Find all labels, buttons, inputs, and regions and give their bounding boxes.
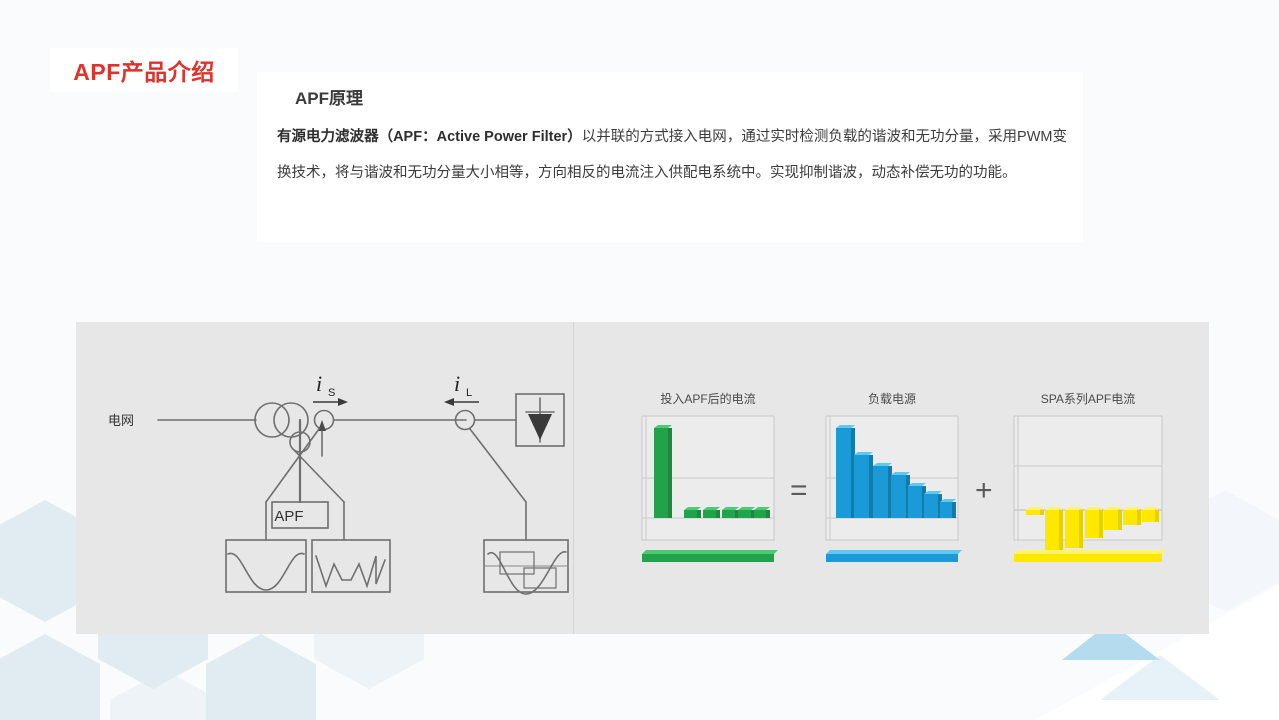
lead-ct-apf <box>294 450 344 502</box>
chart-title-1: 负载电源 <box>822 390 962 407</box>
grid-label: 电网 <box>108 413 134 428</box>
apf-principle-card: APF原理 有源电力滤波器（APF：Active Power Filter）以并… <box>257 72 1083 242</box>
waveform-box-sine <box>226 540 306 592</box>
waveform-distorted <box>316 556 385 586</box>
is-subscript: S <box>328 387 335 399</box>
chart-floor-blue <box>826 550 962 562</box>
label-is: i S <box>316 371 335 399</box>
slide-title-chip: APF产品介绍 <box>50 48 238 92</box>
il-arrow <box>444 398 479 406</box>
is-arrow <box>313 398 348 406</box>
apf-box-label: APF <box>274 508 303 525</box>
waveform-box-distorted <box>312 540 390 592</box>
il-symbol: i <box>454 371 460 396</box>
lead-ct-source <box>266 429 319 502</box>
card-body-bold: 有源电力滤波器（APF：Active Power Filter） <box>277 129 582 145</box>
transformer-coil-1 <box>255 403 289 437</box>
is-symbol: i <box>316 371 322 396</box>
chart-floor-green <box>642 550 778 562</box>
card-heading: APF原理 <box>295 84 363 109</box>
diode-triangle <box>528 414 552 440</box>
chart-title-2: SPA系列APF电流 <box>1008 390 1168 407</box>
il-subscript: L <box>466 387 472 399</box>
operator-plus: + <box>975 474 993 508</box>
panel-divider <box>573 322 574 634</box>
circuit-diagram: 电网 负载 APF i S i L <box>76 322 573 634</box>
chart-apf-output <box>638 414 778 566</box>
chart-apf-current <box>1008 414 1168 566</box>
operator-equals: = <box>790 474 808 508</box>
chart-floor-yellow <box>1014 550 1166 562</box>
lead-ct-load <box>470 429 526 502</box>
waveform-sine <box>228 553 304 590</box>
card-body: 有源电力滤波器（APF：Active Power Filter）以并联的方式接入… <box>277 120 1067 191</box>
chart-load-source <box>822 414 962 566</box>
page-title: APF产品介绍 <box>73 53 215 87</box>
diagram-panel: 电网 负载 APF i S i L 投入APF后的电流 <box>76 322 1209 634</box>
chart-title-0: 投入APF后的电流 <box>638 390 778 407</box>
label-il: i L <box>454 371 472 399</box>
